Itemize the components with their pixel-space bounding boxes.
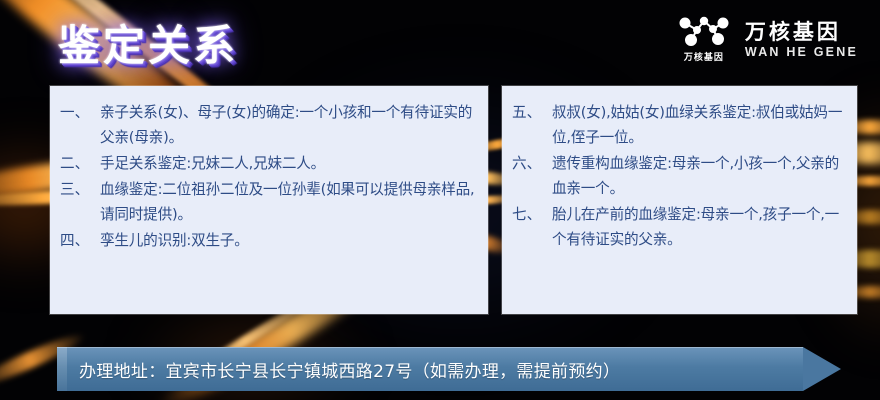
list-item-number: 五、 (512, 100, 552, 125)
brand-mark-label: 万核基因 (684, 50, 724, 63)
brand-name-cn: 万核基因 (745, 20, 841, 44)
list-item: 二、 手足关系鉴定:兄妹二人,兄妹二人。 (60, 151, 480, 176)
list-item-text: 血缘鉴定:二位祖孙二位及一位孙辈(如果可以提供母亲样品,请同时提供)。 (100, 177, 480, 227)
content-panel-right: 五、 叔叔(女),姑姑(女)血绿关系鉴定:叔伯或姑妈一位,侄子一位。 六、 遗传… (502, 86, 857, 314)
list-item: 五、 叔叔(女),姑姑(女)血绿关系鉴定:叔伯或姑妈一位,侄子一位。 (512, 100, 849, 150)
page-title: 鉴定关系 (58, 12, 238, 73)
list-item: 一、 亲子关系(女)、母子(女)的确定:一个小孩和一个有待证实的父亲(母亲)。 (60, 100, 480, 150)
brand-mark: 万核基因 (677, 16, 731, 63)
list-item: 六、 遗传重构血缘鉴定:母亲一个,小孩一个,父亲的血亲一个。 (512, 151, 849, 201)
list-item: 三、 血缘鉴定:二位祖孙二位及一位孙辈(如果可以提供母亲样品,请同时提供)。 (60, 177, 480, 227)
list-item-text: 遗传重构血缘鉴定:母亲一个,小孩一个,父亲的血亲一个。 (552, 151, 849, 201)
slide-root: 鉴定关系 (0, 0, 880, 400)
brand-name-en: WAN HE GENE (745, 45, 858, 59)
list-item-text: 孪生儿的识别:双生子。 (100, 228, 480, 253)
list-item-number: 四、 (60, 228, 100, 253)
list-item-number: 三、 (60, 177, 100, 202)
list-item-number: 七、 (512, 202, 552, 227)
list-item: 四、 孪生儿的识别:双生子。 (60, 228, 480, 253)
list-item-number: 一、 (60, 100, 100, 125)
list-item-text: 手足关系鉴定:兄妹二人,兄妹二人。 (100, 151, 480, 176)
banner-arrow-icon (803, 347, 841, 391)
list-item-text: 叔叔(女),姑姑(女)血绿关系鉴定:叔伯或姑妈一位,侄子一位。 (552, 100, 849, 150)
brand-name-block: 万核基因 WAN HE GENE (745, 20, 858, 59)
list-item-number: 二、 (60, 151, 100, 176)
content-panel-left: 一、 亲子关系(女)、母子(女)的确定:一个小孩和一个有待证实的父亲(母亲)。 … (50, 86, 488, 314)
banner-text: 办理地址：宜宾市长宁县长宁镇城西路27号（如需办理，需提前预约） (79, 347, 620, 391)
address-banner: 办理地址：宜宾市长宁县长宁镇城西路27号（如需办理，需提前预约） (57, 347, 857, 391)
list-item-text: 亲子关系(女)、母子(女)的确定:一个小孩和一个有待证实的父亲(母亲)。 (100, 100, 480, 150)
brand-logo: 万核基因 万核基因 WAN HE GENE (677, 16, 858, 63)
list-item-text: 胎儿在产前的血缘鉴定:母亲一个,孩子一个,一个有待证实的父亲。 (552, 202, 849, 252)
list-item: 七、 胎儿在产前的血缘鉴定:母亲一个,孩子一个,一个有待证实的父亲。 (512, 202, 849, 252)
list-item-number: 六、 (512, 151, 552, 176)
molecule-icon (677, 16, 731, 48)
slide-header: 鉴定关系 (0, 0, 880, 86)
banner-left-notch (57, 347, 67, 391)
